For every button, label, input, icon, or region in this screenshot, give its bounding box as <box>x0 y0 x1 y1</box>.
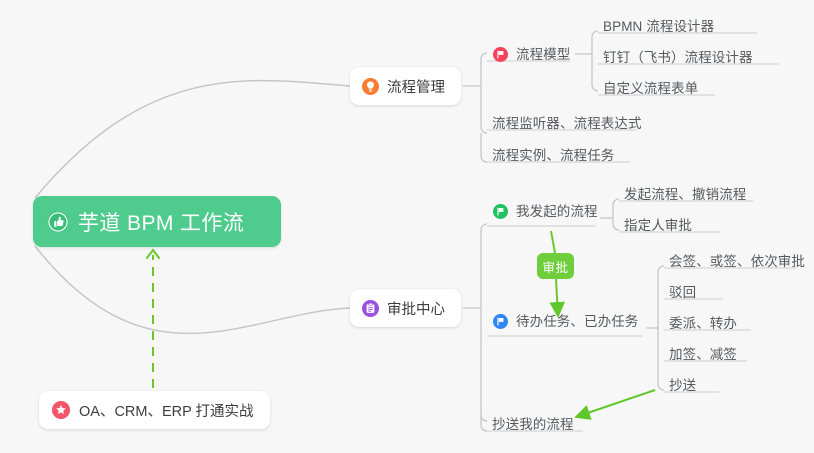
branch-node-approval-center[interactable]: 审批中心 <box>350 289 461 327</box>
connector-mine-spine <box>613 199 619 230</box>
branch-node-process-management[interactable]: 流程管理 <box>350 67 461 105</box>
leaf-bpmn-designer[interactable]: BPMN 流程设计器 <box>603 20 714 34</box>
annotation-badge-approve: 审批 <box>537 253 574 279</box>
connector-pm-spine <box>481 53 487 133</box>
clipboard-icon <box>362 300 379 317</box>
leaf-delegate-transfer[interactable]: 委派、转办 <box>669 317 737 331</box>
leaf-countersign[interactable]: 会签、或签、依次审批 <box>669 255 805 269</box>
mindmap-canvas: 芋道 BPM 工作流 流程管理 审批中心 <box>0 0 814 453</box>
node-label-todo-done-tasks: 待办任务、已办任务 <box>516 315 638 329</box>
leaf-custom-process-form[interactable]: 自定义流程表单 <box>603 82 698 96</box>
flag-icon-green <box>493 204 508 219</box>
leaf-cc-to-me-processes[interactable]: 抄送我的流程 <box>492 418 574 432</box>
connector-todo-spine <box>658 266 664 390</box>
root-label: 芋道 BPM 工作流 <box>78 207 244 237</box>
leaf-process-instance[interactable]: 流程实例、流程任务 <box>492 149 614 163</box>
connector-ac-spine <box>481 224 487 421</box>
thumbs-up-icon <box>47 211 69 233</box>
leaf-assignee-approval[interactable]: 指定人审批 <box>624 219 692 233</box>
callout-card-integration[interactable]: OA、CRM、ERP 打通实战 <box>39 391 270 429</box>
branch-label-approval-center: 审批中心 <box>387 298 445 319</box>
connector-root-to-process-management <box>35 81 350 198</box>
leaf-reject[interactable]: 驳回 <box>669 286 696 300</box>
connector-model-spine <box>592 31 598 91</box>
connector-pm-spine-lower <box>481 133 487 162</box>
flag-icon-red <box>493 47 508 62</box>
branch-label-process-management: 流程管理 <box>387 76 445 97</box>
star-icon <box>52 401 70 419</box>
leaf-dingtalk-designer[interactable]: 钉钉（飞书）流程设计器 <box>603 51 753 65</box>
leaf-add-remove-sign[interactable]: 加签、减签 <box>669 348 737 362</box>
callout-label-integration: OA、CRM、ERP 打通实战 <box>79 400 254 421</box>
node-label-process-model: 流程模型 <box>516 48 570 62</box>
leaf-carbon-copy[interactable]: 抄送 <box>669 379 696 393</box>
annotation-arrow-approve-top <box>551 231 555 253</box>
connector-root-to-approval-center <box>35 246 350 333</box>
connector-ac-cc-elbow <box>481 415 487 431</box>
annotation-arrowhead-oa <box>147 250 159 258</box>
flag-icon-blue <box>493 314 508 329</box>
node-todo-done-tasks[interactable]: 待办任务、已办任务 <box>493 314 638 329</box>
leaf-start-cancel-process[interactable]: 发起流程、撤销流程 <box>624 188 746 202</box>
annotation-arrow-approve-bottom <box>556 279 558 316</box>
node-label-my-initiated: 我发起的流程 <box>516 205 598 219</box>
leaf-process-listener[interactable]: 流程监听器、流程表达式 <box>492 117 642 131</box>
root-node[interactable]: 芋道 BPM 工作流 <box>33 196 281 247</box>
node-my-initiated-processes[interactable]: 我发起的流程 <box>493 204 598 219</box>
annotation-arrow-cc <box>576 390 655 417</box>
node-process-model[interactable]: 流程模型 <box>493 47 570 62</box>
lightbulb-icon <box>362 78 379 95</box>
